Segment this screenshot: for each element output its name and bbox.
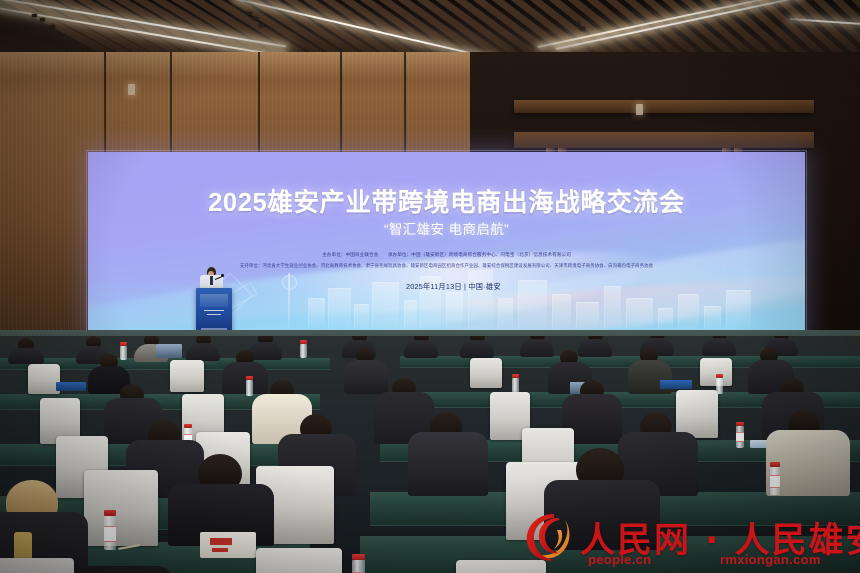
skyline-building [576,302,599,329]
led-fixture-box [32,14,37,17]
audience-chair [84,470,158,546]
audience-chair [0,558,74,573]
microphone-head [221,274,224,277]
water-bottle [246,380,253,396]
skyline-building [354,304,369,329]
water-bottle-label [770,475,780,488]
ceiling [0,0,860,60]
skyline-building [552,294,571,329]
event-title: 2025雄安产业带跨境电商出海战略交流会 [88,182,805,219]
skyline-building [678,294,699,329]
audience-person [74,566,172,573]
led-fixture-box [253,17,258,20]
skyline-building [404,300,417,329]
led-fixture-box [575,22,580,25]
skyline-building [446,292,463,329]
skyline-building [498,298,513,329]
water-bottle-label [104,526,116,542]
watermark: 人民网 · 人民雄安网 people.cn rmxiongan.com [524,508,854,570]
audience-chair [470,358,502,388]
skyline-building [308,298,325,329]
conference-photo: 2025雄安产业带跨境电商出海战略交流会 “智汇雄安 电商启航” 主办单位：中国… [0,0,860,573]
audience-person [186,343,220,361]
led-fixture-box [247,12,252,15]
wall-beam [514,100,814,113]
water-bottle [120,346,127,360]
wall-cove-light [0,52,472,78]
led-fixture-box [40,18,45,21]
audience-person [222,362,268,394]
wall-speaker [128,84,135,95]
led-fixture-box [50,25,55,28]
organizer-line: 主办单位：中国商业联合会 承办单位：中国（雄安新区）跨境电商综合服务中心、闪电宝… [88,252,805,258]
audience-person [404,340,438,358]
led-fixture-box [580,27,585,30]
podium-text-line [204,310,224,311]
people-daily-swirl-logo [524,512,578,564]
wall-beam [514,132,814,148]
skyline-building [328,288,351,329]
podium-text-line [207,314,221,315]
event-slogan: “智汇雄安 电商启航” [88,218,805,238]
event-date-location: 2025年11月13日 | 中国·雄安 [406,282,501,292]
skyline-building [468,270,493,329]
tote-bag-logo [210,538,232,545]
audience-person [344,360,388,394]
audience-person [578,339,612,357]
audience-chair [676,390,718,438]
audience-person [702,338,736,356]
audience-person [460,340,494,358]
skyline-building [726,290,751,329]
skyline-building [372,282,399,329]
audience-person [520,339,554,357]
audience-chair [256,548,342,573]
table-name-placard [56,382,86,391]
tote-bag-logo [212,548,228,552]
watermark-url-xiongan: rmxiongan.com [720,552,821,567]
tote-bag [200,532,256,558]
audience-chair [170,360,204,392]
skyline-building [518,280,547,329]
skyline-spire [288,273,290,329]
wall-speaker [636,104,643,115]
skyline-building [604,286,621,329]
podium-graphic-panel [200,294,228,307]
water-bottle [300,344,307,358]
city-skyline-graphic [208,267,768,329]
watermark-url-people: people.cn [588,552,651,567]
audience-person [408,432,488,496]
presenter-tie [210,276,213,285]
skyline-building [626,298,653,329]
led-fixture-box [259,24,264,27]
skyline-building [704,306,721,329]
skyline-building [658,308,673,329]
support-units-line: 支持单位：河北省大学生就业创业协会、河北省教育技术协会、肃宁县毛绒玩具协会、雄安… [88,263,805,269]
laptop [156,344,182,358]
audience-person [8,348,44,364]
water-bottle-label [736,432,744,442]
podium [196,288,232,336]
table-name-placard [660,380,692,389]
